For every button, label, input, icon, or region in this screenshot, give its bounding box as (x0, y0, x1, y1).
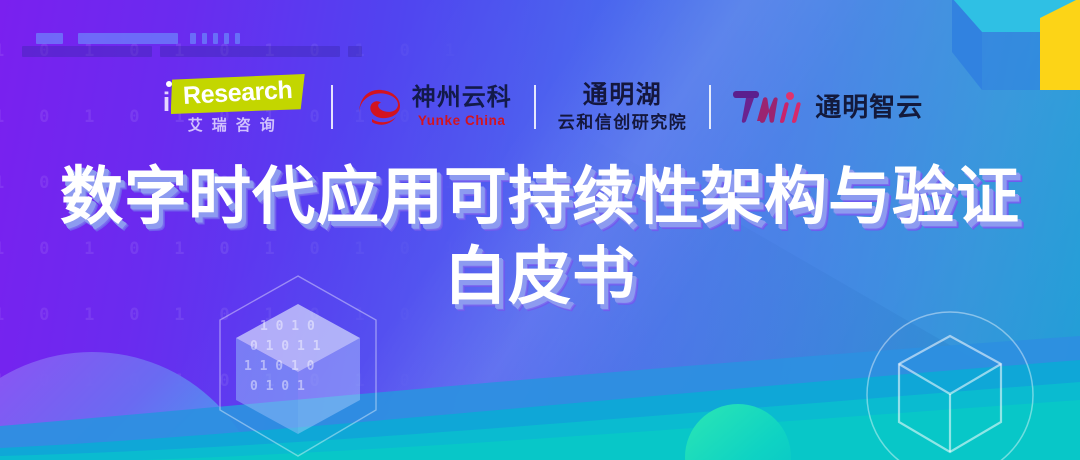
iresearch-logo[interactable]: i Research 艾瑞咨询 (157, 75, 309, 139)
logo-divider (331, 85, 333, 129)
tmi-wordmark-icon (733, 90, 805, 124)
iresearch-wordmark: Research (182, 78, 293, 109)
decor-bar (190, 33, 196, 44)
svg-text:1 0 1 0: 1 0 1 0 (260, 319, 315, 334)
yunke-china-logo[interactable]: 神州云科 Yunke China (355, 86, 512, 128)
tmi-cn-name: 通明智云 (815, 94, 923, 120)
decor-bar (235, 33, 240, 44)
title-line-1: 数字时代应用可持续性架构与验证 (0, 158, 1080, 236)
decor-bar (224, 33, 229, 44)
logo-divider (534, 85, 536, 129)
decor-bar (348, 46, 362, 57)
whitepaper-cover: 1 0 1 0 1 0 1 0 1 0 1 0 1 0 1 0 1 0 1 0 … (0, 0, 1080, 460)
logo-divider (709, 85, 711, 129)
partner-logo-bar: i Research 艾瑞咨询 神州云科 Yunke China 通明湖 云和信… (0, 74, 1080, 140)
cover-title: 数字时代应用可持续性架构与验证 白皮书 (0, 158, 1080, 316)
decor-bar (22, 46, 152, 57)
title-line-2: 白皮书 (0, 238, 1080, 316)
iresearch-cn-name: 艾瑞咨询 (163, 118, 309, 133)
svg-text:0 1 0 1: 0 1 0 1 (250, 379, 305, 394)
decor-bar (213, 33, 218, 44)
yunke-text-block: 神州云科 Yunke China (412, 86, 512, 128)
yunke-en-name: Yunke China (418, 114, 506, 128)
yunke-cn-name: 神州云科 (412, 86, 512, 110)
decor-bar (160, 46, 340, 57)
tongminghu-cn-name: 通明湖 (583, 83, 663, 108)
iresearch-i-letter: i (163, 81, 172, 116)
decor-bar (202, 33, 207, 44)
svg-text:1 1 0 1 0: 1 1 0 1 0 (244, 359, 315, 374)
tongminghu-cn-sub: 云和信创研究院 (558, 114, 688, 131)
decor-bar (36, 33, 63, 44)
tmi-logo[interactable]: 通明智云 (733, 90, 923, 124)
decor-bar (78, 33, 178, 44)
wireframe-cube-in-circle-icon (855, 300, 1045, 460)
iresearch-i-glyph: i (163, 87, 171, 117)
tongminghu-institute-logo[interactable]: 通明湖 云和信创研究院 (558, 83, 688, 131)
svg-text:0 1 0 1 1: 0 1 0 1 1 (250, 339, 321, 354)
red-swirl-icon (355, 87, 403, 127)
